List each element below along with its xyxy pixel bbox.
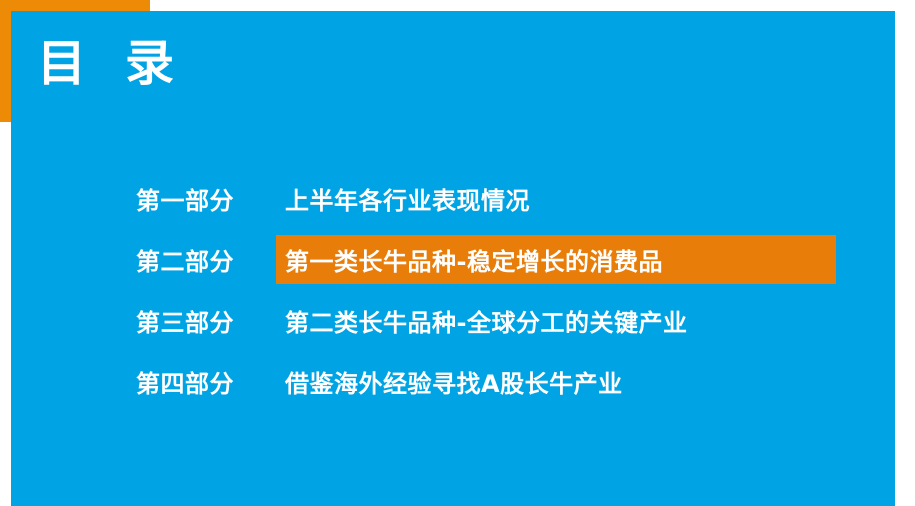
toc-part-label-4: 第四部分 — [125, 364, 285, 399]
toc-section-title-1: 上半年各行业表现情况 — [285, 174, 530, 223]
toc-section-title-4: 借鉴海外经验寻找A股长牛产业 — [285, 357, 623, 406]
toc-item-1[interactable]: 第一部分 上半年各行业表现情况 — [125, 168, 865, 229]
accent-bar-top-decoration — [0, 0, 150, 11]
toc-item-2[interactable]: 第二部分 第一类长牛品种-稳定增长的消费品 — [125, 229, 865, 290]
toc-item-3[interactable]: 第三部分 第二类长牛品种-全球分工的关键产业 — [125, 290, 865, 351]
toc-part-label-3: 第三部分 — [125, 303, 285, 338]
toc-part-label-1: 第一部分 — [125, 181, 285, 216]
accent-bar-left-decoration — [0, 0, 11, 122]
page-title: 目 录 — [37, 37, 185, 92]
table-of-contents: 第一部分 上半年各行业表现情况 第二部分 第一类长牛品种-稳定增长的消费品 第三… — [125, 168, 865, 412]
toc-part-label-2: 第二部分 — [125, 242, 285, 277]
toc-section-title-2: 第一类长牛品种-稳定增长的消费品 — [276, 235, 836, 284]
presentation-slide: 目 录 第一部分 上半年各行业表现情况 第二部分 第一类长牛品种-稳定增长的消费… — [0, 0, 915, 506]
toc-item-4[interactable]: 第四部分 借鉴海外经验寻找A股长牛产业 — [125, 351, 865, 412]
toc-section-title-3: 第二类长牛品种-全球分工的关键产业 — [285, 296, 687, 345]
